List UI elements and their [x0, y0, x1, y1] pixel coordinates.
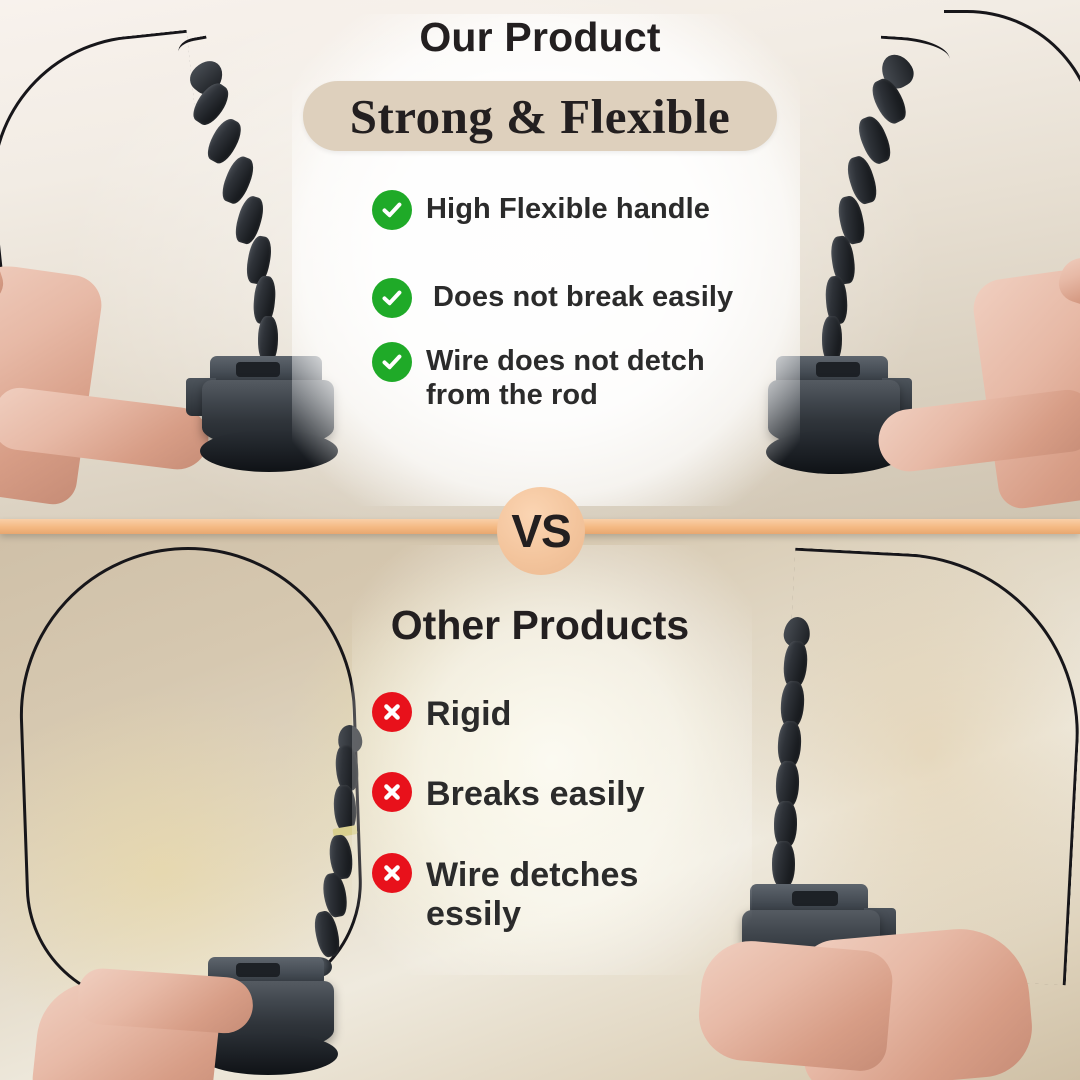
cons-feature-list: Rigid Breaks easily Wire detches essily: [372, 692, 772, 973]
list-item-label: Rigid: [426, 692, 511, 734]
cross-circle-icon: [372, 853, 412, 893]
strong-flexible-label: Strong & Flexible: [350, 88, 731, 145]
list-item: Breaks easily: [372, 772, 772, 814]
page-title-our-product: Our Product: [0, 14, 1080, 61]
pros-feature-list: High Flexible handle Does not break easi…: [372, 190, 772, 434]
list-item: High Flexible handle: [372, 190, 772, 230]
list-item: Does not break easily: [372, 278, 772, 318]
list-item: Rigid: [372, 692, 772, 734]
vs-badge: VS: [497, 487, 585, 575]
list-item-label: Wire detches essily: [426, 853, 676, 935]
product-comparison-infographic: Our Product Strong & Flexible High Flexi…: [0, 0, 1080, 1080]
our-product-panel: Our Product Strong & Flexible High Flexi…: [0, 0, 1080, 522]
cross-circle-icon: [372, 692, 412, 732]
flexible-rod-right: [790, 48, 850, 378]
list-item-label: Breaks easily: [426, 772, 645, 814]
other-products-panel: Other Products Rigid Breaks easily: [0, 533, 1080, 1080]
check-circle-icon: [372, 190, 412, 230]
check-circle-icon: [372, 342, 412, 382]
hand-right: [970, 263, 1080, 512]
suction-cup-base: [180, 350, 355, 490]
cross-circle-icon: [372, 772, 412, 812]
list-item: Wire does not detch from the rod: [372, 342, 772, 412]
page-title-other-products: Other Products: [0, 602, 1080, 649]
list-item-label: High Flexible handle: [426, 190, 710, 227]
rod-bottom-right: [772, 617, 822, 897]
rigid-rod: [300, 723, 350, 983]
strong-flexible-badge: Strong & Flexible: [303, 81, 777, 151]
list-item: Wire detches essily: [372, 853, 772, 935]
vs-label: VS: [511, 504, 570, 558]
list-item-label: Wire does not detch from the rod: [426, 342, 772, 412]
hand-left: [0, 259, 105, 508]
list-item-label: Does not break easily: [426, 278, 733, 315]
check-circle-icon: [372, 278, 412, 318]
flexible-rod: [252, 48, 312, 388]
